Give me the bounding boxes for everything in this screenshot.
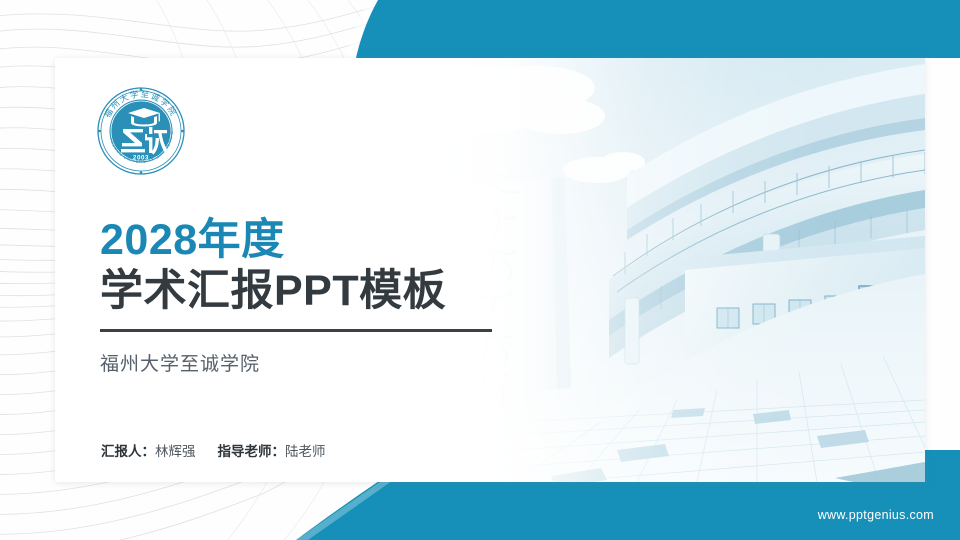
presenter-line: 汇报人：林辉强指导老师：陆老师 — [101, 440, 326, 460]
presentation-slide: 福州大学至诚学院 FUZHOU UNIVERSITY ZHICHENG COLL… — [0, 0, 960, 540]
advisor-label: 指导老师 — [218, 444, 272, 459]
school-name: 福州大学至诚学院 — [100, 349, 492, 376]
title-block: 2028年度 学术汇报PPT模板 福州大学至诚学院 — [100, 216, 492, 376]
footer-website-url[interactable]: www.pptgenius.com — [818, 508, 934, 522]
college-seal-logo: 福州大学至诚学院 FUZHOU UNIVERSITY ZHICHENG COLL… — [95, 85, 187, 177]
year-title: 2028年度 — [100, 216, 492, 264]
advisor-separator: ： — [272, 444, 286, 459]
advisor-name: 陆老师 — [285, 444, 326, 459]
reporter-label: 汇报人 — [101, 444, 142, 459]
page-title: 学术汇报PPT模板 — [100, 266, 492, 317]
top-accent-band — [0, 0, 960, 58]
svg-text:2003: 2003 — [133, 154, 149, 161]
content-card: 福州大学至诚学院 FUZHOU UNIVERSITY ZHICHENG COLL… — [55, 58, 925, 482]
title-divider — [100, 329, 492, 332]
reporter-name: 林辉强 — [155, 444, 196, 459]
reporter-separator: ： — [142, 444, 156, 459]
